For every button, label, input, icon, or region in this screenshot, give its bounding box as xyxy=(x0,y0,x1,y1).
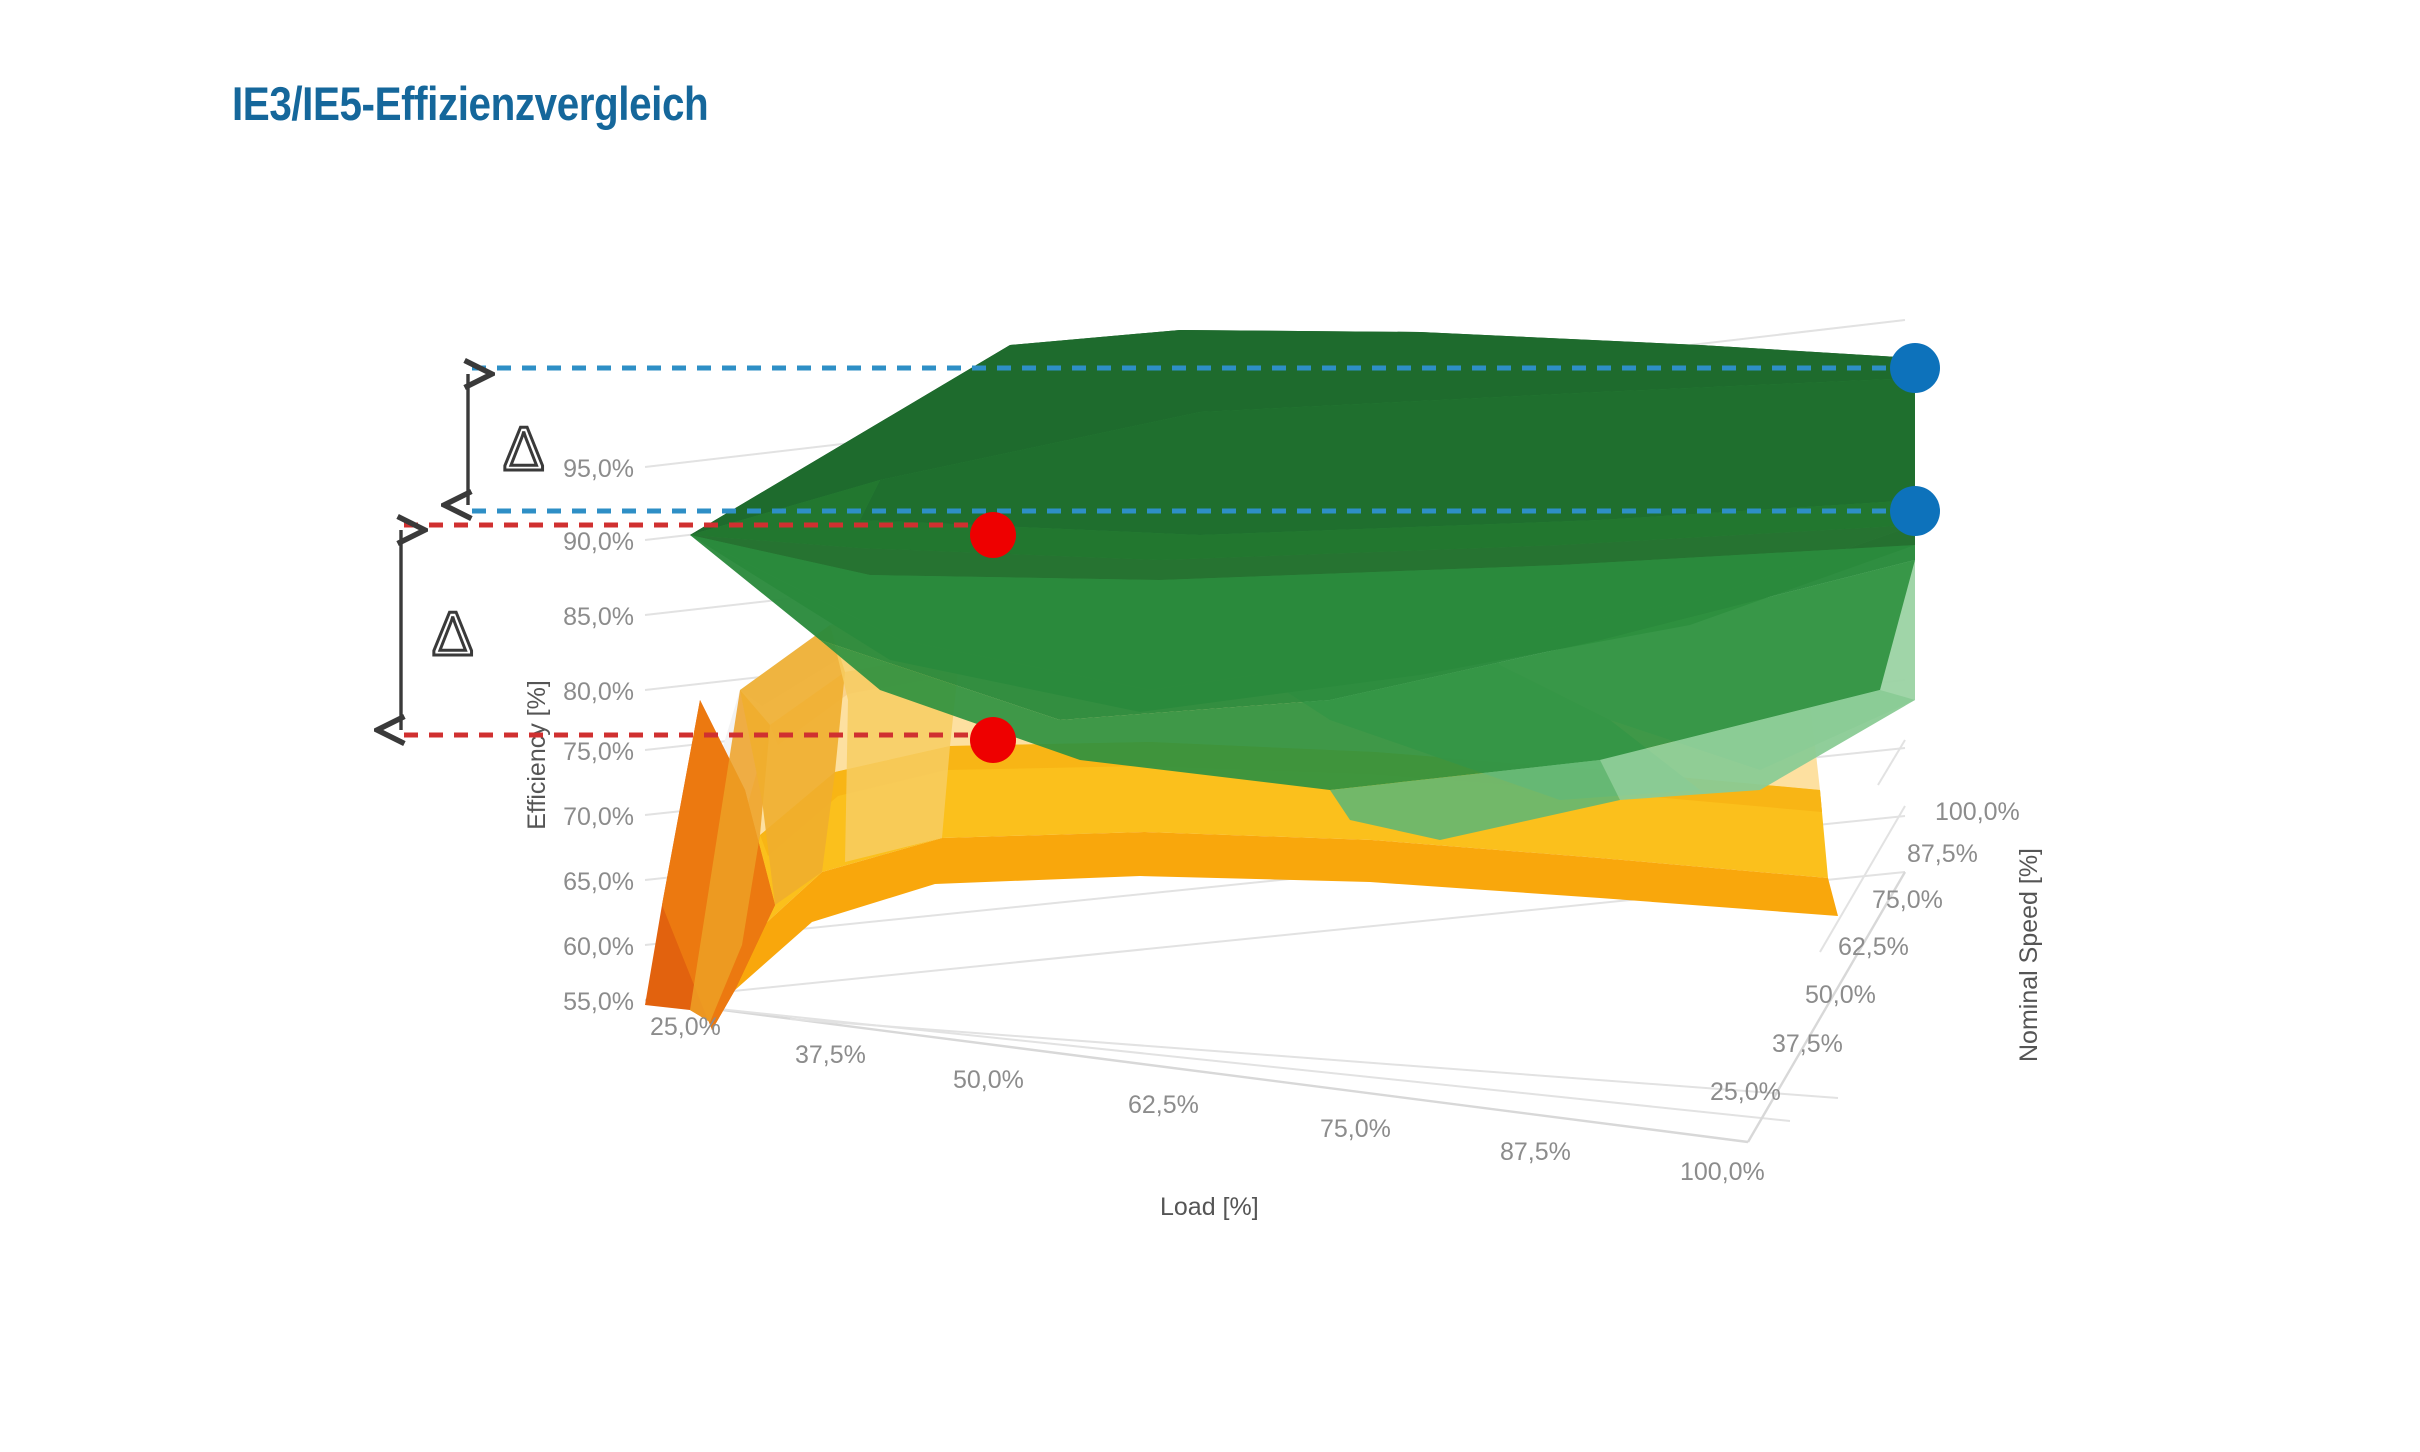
y-tick-label: 100,0% xyxy=(1935,798,2020,826)
z-axis-ticks: 95,0% 90,0% 85,0% 80,0% 75,0% 70,0% 65,0… xyxy=(563,455,634,1016)
marker-ie3-full-load[interactable] xyxy=(1890,486,1940,536)
y-axis-title: Nominal Speed [%] xyxy=(2015,848,2043,1062)
z-tick-label: 70,0% xyxy=(563,803,634,831)
x-tick-label: 87,5% xyxy=(1500,1138,1571,1166)
x-tick-label: 25,0% xyxy=(650,1013,721,1041)
x-tick-label: 50,0% xyxy=(953,1066,1024,1094)
y-tick-label: 25,0% xyxy=(1710,1078,1781,1106)
marker-ie5-part-load[interactable] xyxy=(970,512,1016,558)
z-tick-label: 85,0% xyxy=(563,603,634,631)
y-tick-label: 62,5% xyxy=(1838,933,1909,961)
x-tick-label: 37,5% xyxy=(795,1041,866,1069)
y-tick-label: 50,0% xyxy=(1805,981,1876,1009)
marker-ie3-part-load[interactable] xyxy=(970,717,1016,763)
marker-ie5-full-load[interactable] xyxy=(1890,343,1940,393)
chart-page: IE3/IE5-Effizienzvergleich xyxy=(0,0,2420,1452)
delta-symbol-upper: Δ xyxy=(503,415,544,484)
x-tick-label: 75,0% xyxy=(1320,1115,1391,1143)
x-tick-label: 62,5% xyxy=(1128,1091,1199,1119)
z-tick-label: 80,0% xyxy=(563,678,634,706)
delta-symbol-lower: Δ xyxy=(432,600,473,669)
z-tick-label: 90,0% xyxy=(563,528,634,556)
y-tick-label: 87,5% xyxy=(1907,840,1978,868)
floor-gridlines xyxy=(645,1000,1838,1142)
x-axis-ticks: 25,0% 37,5% 50,0% 62,5% 75,0% 87,5% 100,… xyxy=(650,1013,1765,1186)
y-tick-label: 37,5% xyxy=(1772,1030,1843,1058)
z-tick-label: 75,0% xyxy=(563,738,634,766)
surface-plot: 95,0% 90,0% 85,0% 80,0% 75,0% 70,0% 65,0… xyxy=(0,0,2420,1452)
z-axis-title: Efficiency [%] xyxy=(523,680,551,830)
x-tick-label: 100,0% xyxy=(1680,1158,1765,1186)
z-tick-label: 65,0% xyxy=(563,868,634,896)
y-tick-label: 75,0% xyxy=(1872,886,1943,914)
z-tick-label: 60,0% xyxy=(563,933,634,961)
x-axis-title: Load [%] xyxy=(1160,1193,1259,1221)
z-tick-label: 95,0% xyxy=(563,455,634,483)
z-tick-label: 55,0% xyxy=(563,988,634,1016)
